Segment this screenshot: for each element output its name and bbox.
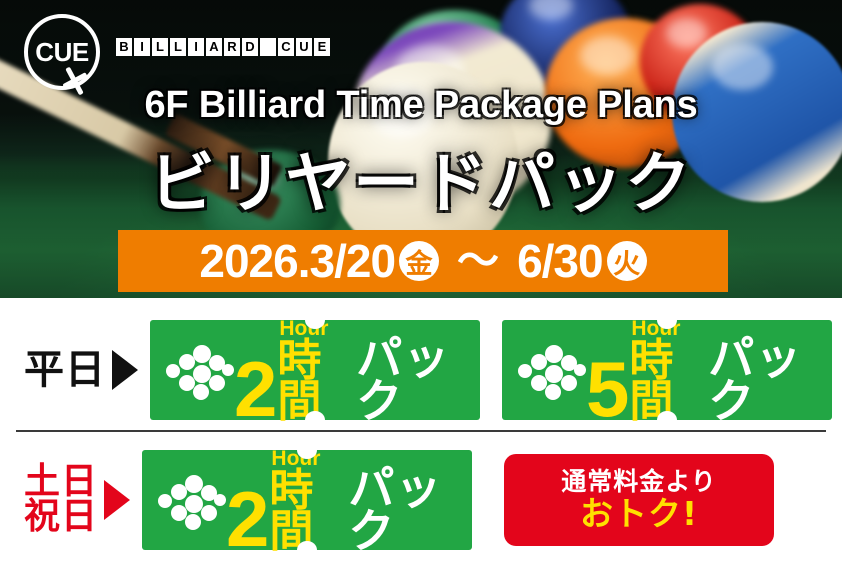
ticket-unit-group: Hour 時間 [277,318,344,422]
logo-wordmark: BILLIARD.CUE [116,38,330,56]
hero-photo-section: CUE BILLIARD.CUE 6F Billiard Time Packag… [0,0,842,298]
billiard-ball-dot [222,364,234,376]
billiard-package-banner: CUE BILLIARD.CUE 6F Billiard Time Packag… [0,0,842,562]
billiard-ball-dot [561,375,577,391]
ticket-unit-group: Hour 時間 [269,448,336,552]
logo-circle-mark: CUE [24,14,100,90]
ticket-unit-japanese: 時間 [277,341,344,422]
logo-letter-box: B [116,38,132,56]
billiard-ball-dot [209,375,225,391]
logo-letter-box: I [188,38,204,56]
ticket-notch-top-center [297,441,317,459]
start-weekday-badge: 金 [399,241,439,281]
arrow-right-icon [112,350,138,390]
plan-row-weekday: 平日 2 Hour 時間 パック [0,312,842,428]
ticket-hour-number: 2 [234,358,275,422]
ticket-hour-block: 2 Hour 時間 パック [226,448,472,552]
date-range-separator: 〜 [457,240,499,282]
ticket-weekday-2hour[interactable]: 2 Hour 時間 パック [150,320,480,420]
page-title-japanese: ビリヤードパック [0,130,842,226]
promo-discount-box: 通常料金より おトク! [504,454,774,546]
logo-letter-box: L [152,38,168,56]
day-label-weekday-group: 平日 [24,350,138,390]
ticket-notch-top-center [657,311,677,329]
end-weekday-badge: 火 [607,241,647,281]
ticket-notch-bottom-center [657,411,677,429]
logo-letter-box: I [134,38,150,56]
billiard-ball-dot [201,505,217,521]
billiard-rack-icon [518,342,582,398]
ticket-pack-label: パック [708,337,818,422]
logo-letter-box: E [314,38,330,56]
logo-cue-text: CUE [35,37,88,68]
end-date-text: 6/30 [517,238,603,284]
ticket-unit-japanese: 時間 [629,341,696,422]
ticket-hour-number: 5 [586,358,627,422]
promo-line-1: 通常料金より [561,468,717,496]
billiard-ball-dot [545,384,561,400]
day-label-holiday: 祝日 [24,500,98,535]
billiard-ball-dot [158,494,172,508]
page-title-english: 6F Billiard Time Package Plans [0,84,842,127]
logo-letter-box: . [260,38,276,56]
logo-letter-box: R [224,38,240,56]
logo-letter-box: D [242,38,258,56]
arrow-right-icon [104,480,130,520]
ticket-unit-group: Hour 時間 [629,318,696,422]
billiard-ball-dot [214,494,226,506]
billiard-rack-icon [158,472,222,528]
ticket-hour-block: 5 Hour 時間 パック [586,318,832,422]
billiard-ball-dot [518,364,532,378]
logo-letter-box: C [278,38,294,56]
ticket-notch-bottom-center [297,541,317,559]
ticket-unit-japanese: 時間 [269,471,336,552]
plan-row-weekend-holiday: 土日 祝日 2 Hour 時間 パック [0,442,842,558]
billiard-rack-icon [166,342,230,398]
ticket-hour-block: 2 Hour 時間 パック [234,318,480,422]
plans-section: 平日 2 Hour 時間 パック [0,298,842,562]
ticket-notch-bottom-center [305,411,325,429]
ticket-holiday-2hour[interactable]: 2 Hour 時間 パック [142,450,472,550]
start-date-text: 2026.3/20 [199,238,395,284]
day-label-holiday-group: 土日 祝日 [24,465,130,534]
ticket-pack-label: パック [348,467,458,552]
promo-line-2: おトク! [580,496,698,532]
brand-logo[interactable]: CUE BILLIARD.CUE [18,8,318,94]
row-divider [16,430,826,432]
billiard-ball-dot [193,384,209,400]
ticket-notch-top-center [305,311,325,329]
billiard-ball-dot [574,364,586,376]
logo-letter-box: U [296,38,312,56]
campaign-date-band: 2026.3/20 金 〜 6/30 火 [118,230,728,292]
billiard-ball-dot [185,514,201,530]
logo-letter-box: A [206,38,222,56]
billiard-ball-dot [166,364,180,378]
logo-letter-box: L [170,38,186,56]
day-label-weekend: 土日 [24,465,98,500]
ticket-hour-number: 2 [226,488,267,552]
day-label-holiday-lines: 土日 祝日 [24,465,98,534]
day-label-weekday: 平日 [24,351,106,389]
ticket-pack-label: パック [356,337,466,422]
ticket-weekday-5hour[interactable]: 5 Hour 時間 パック [502,320,832,420]
